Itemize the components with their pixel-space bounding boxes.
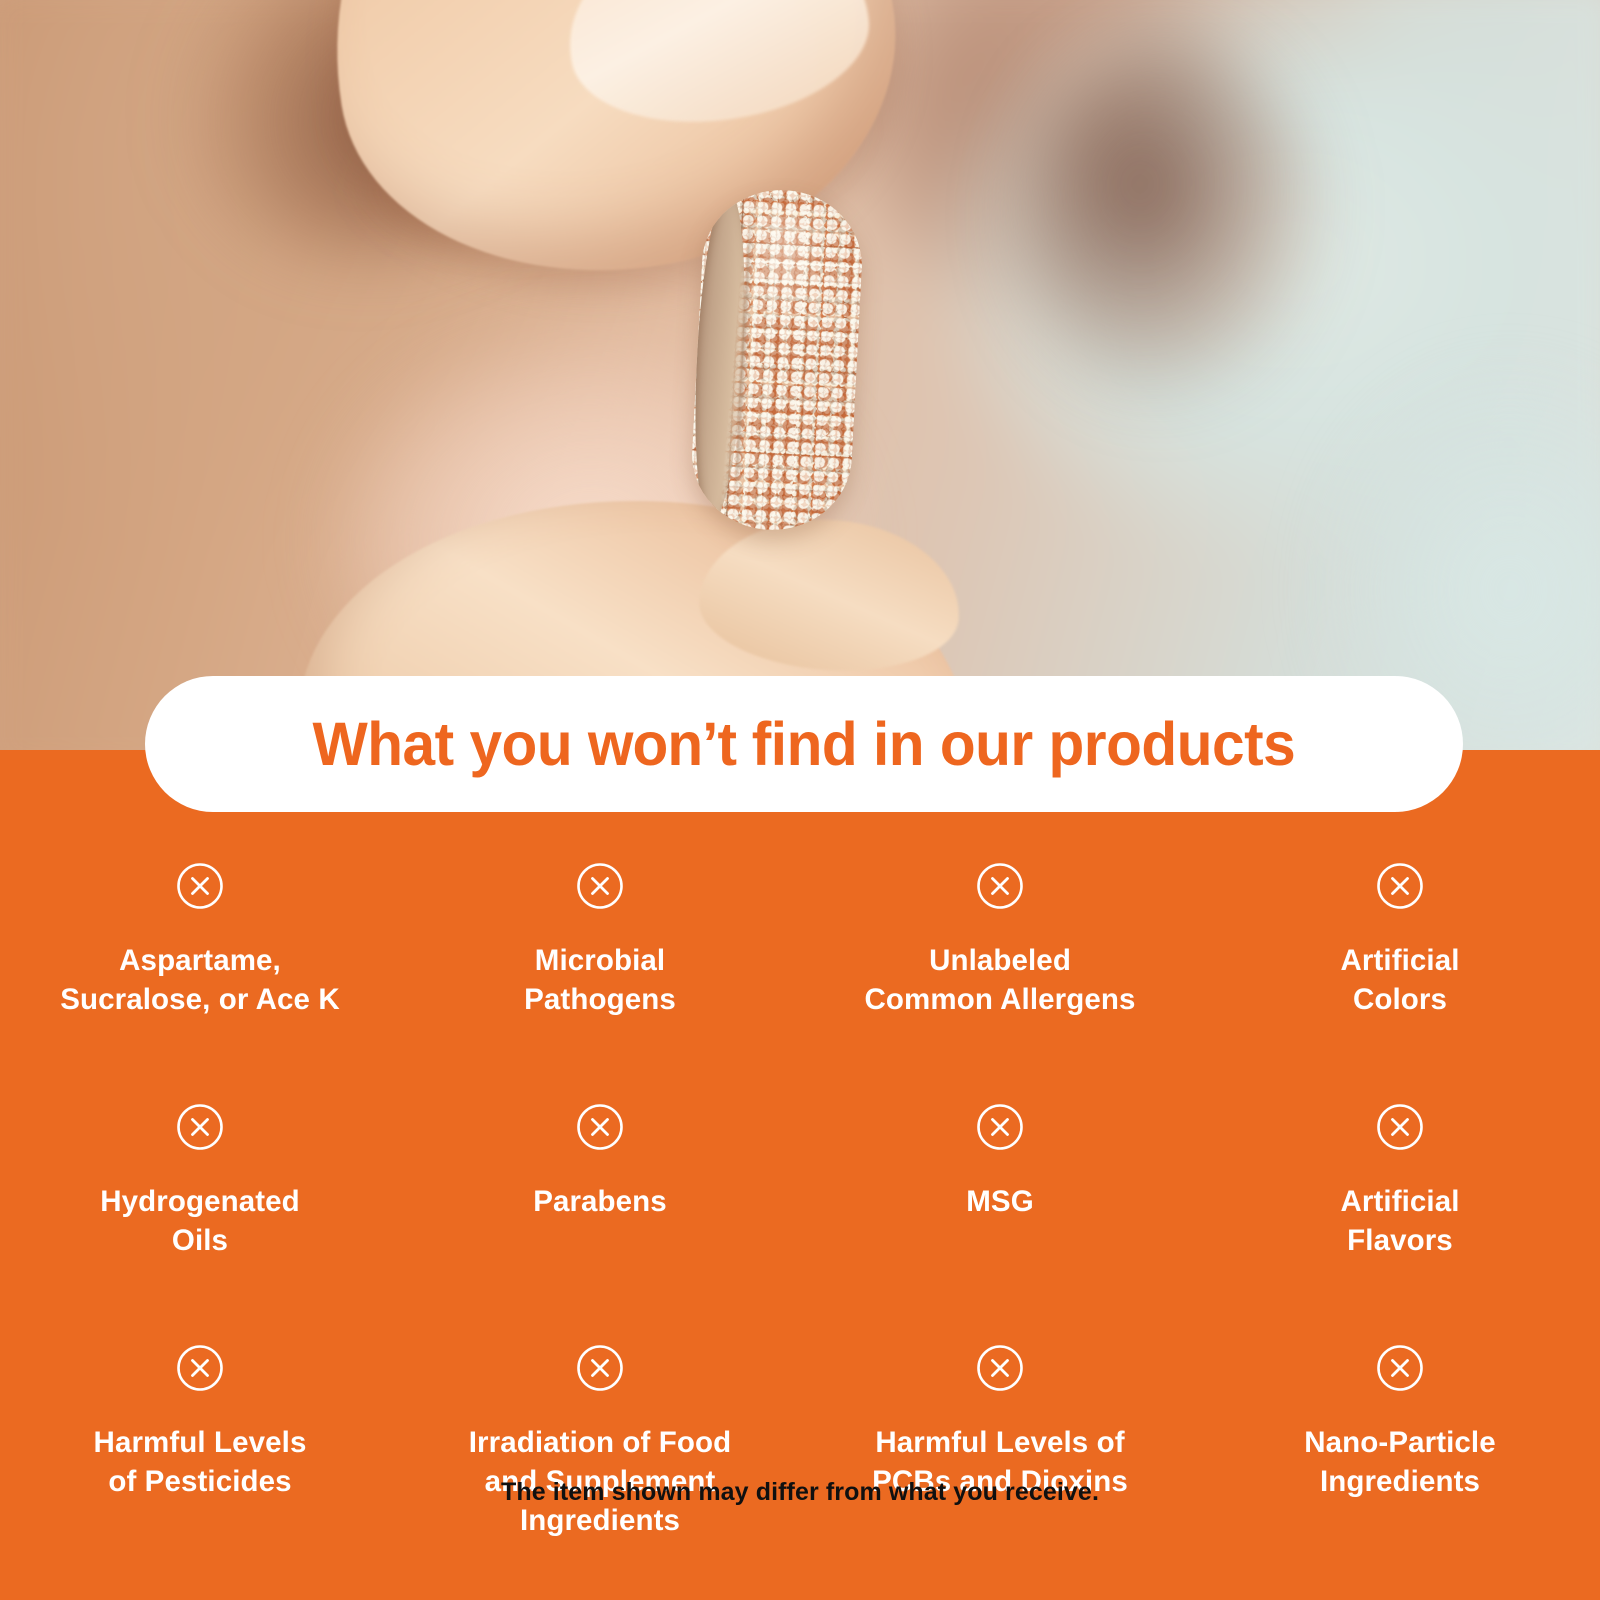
grid-item-label: Parabens (533, 1183, 667, 1222)
grid-item-artificial-flavors: Artificial Flavors (1200, 1103, 1600, 1261)
grid-item-parabens: Parabens (400, 1103, 800, 1261)
circle-x-icon (1376, 1344, 1424, 1392)
circle-x-icon (176, 1344, 224, 1392)
grid-item-label: Artificial Colors (1340, 942, 1459, 1020)
tablet-icon (688, 186, 866, 534)
circle-x-icon (1376, 862, 1424, 910)
grid-row: Hydrogenated Oils Parabens MSG (0, 1103, 1600, 1261)
circle-x-icon (1376, 1103, 1424, 1151)
grid-item-label: Hydrogenated Oils (100, 1183, 300, 1261)
photo-blur-dark-region (1020, 40, 1320, 400)
grid-item-microbial-pathogens: Microbial Pathogens (400, 862, 800, 1020)
circle-x-icon (176, 862, 224, 910)
grid-item-irradiation: Irradiation of Food and Supplement Ingre… (400, 1344, 800, 1541)
row-spacer (0, 1020, 1600, 1103)
grid-item-label: Unlabeled Common Allergens (865, 942, 1136, 1020)
grid-row: Harmful Levels of Pesticides Irradiation… (0, 1344, 1600, 1541)
grid-item-artificial-colors: Artificial Colors (1200, 862, 1600, 1020)
grid-item-msg: MSG (800, 1103, 1200, 1261)
title-emphasis: won’t (588, 710, 736, 778)
circle-x-icon (576, 1344, 624, 1392)
row-spacer (0, 1261, 1600, 1344)
circle-x-icon (176, 1103, 224, 1151)
grid-item-pcbs-dioxins: Harmful Levels of PCBs and Dioxins (800, 1344, 1200, 1541)
grid-item-label: Aspartame, Sucralose, or Ace K (60, 942, 340, 1020)
grid-item-label: Microbial Pathogens (524, 942, 676, 1020)
circle-x-icon (976, 1103, 1024, 1151)
infographic-page: What you won’t find in our products Aspa… (0, 0, 1600, 1600)
circle-x-icon (576, 1103, 624, 1151)
circle-x-icon (576, 862, 624, 910)
grid-item-label: MSG (966, 1183, 1034, 1222)
circle-x-icon (976, 1344, 1024, 1392)
grid-item-unlabeled-allergens: Unlabeled Common Allergens (800, 862, 1200, 1020)
title-part-2: find in our products (736, 710, 1295, 778)
hero-photo (0, 0, 1600, 760)
tablet-body (688, 186, 866, 534)
exclusions-grid: Aspartame, Sucralose, or Ace K Microbial… (0, 862, 1600, 1541)
grid-item-hydrogenated-oils: Hydrogenated Oils (0, 1103, 400, 1261)
grid-item-nano-particle: Nano-Particle Ingredients (1200, 1344, 1600, 1541)
circle-x-icon (976, 862, 1024, 910)
grid-item-harmful-pesticides: Harmful Levels of Pesticides (0, 1344, 400, 1541)
grid-row: Aspartame, Sucralose, or Ace K Microbial… (0, 862, 1600, 1020)
grid-item-label: Artificial Flavors (1340, 1183, 1459, 1261)
disclaimer-text: The item shown may differ from what you … (0, 1478, 1600, 1507)
page-title: What you won’t find in our products (313, 714, 1296, 775)
grid-item-aspartame: Aspartame, Sucralose, or Ace K (0, 862, 400, 1020)
title-part-1: What you (313, 710, 588, 778)
tablet-highlight (751, 211, 831, 335)
title-banner: What you won’t find in our products (145, 676, 1463, 812)
